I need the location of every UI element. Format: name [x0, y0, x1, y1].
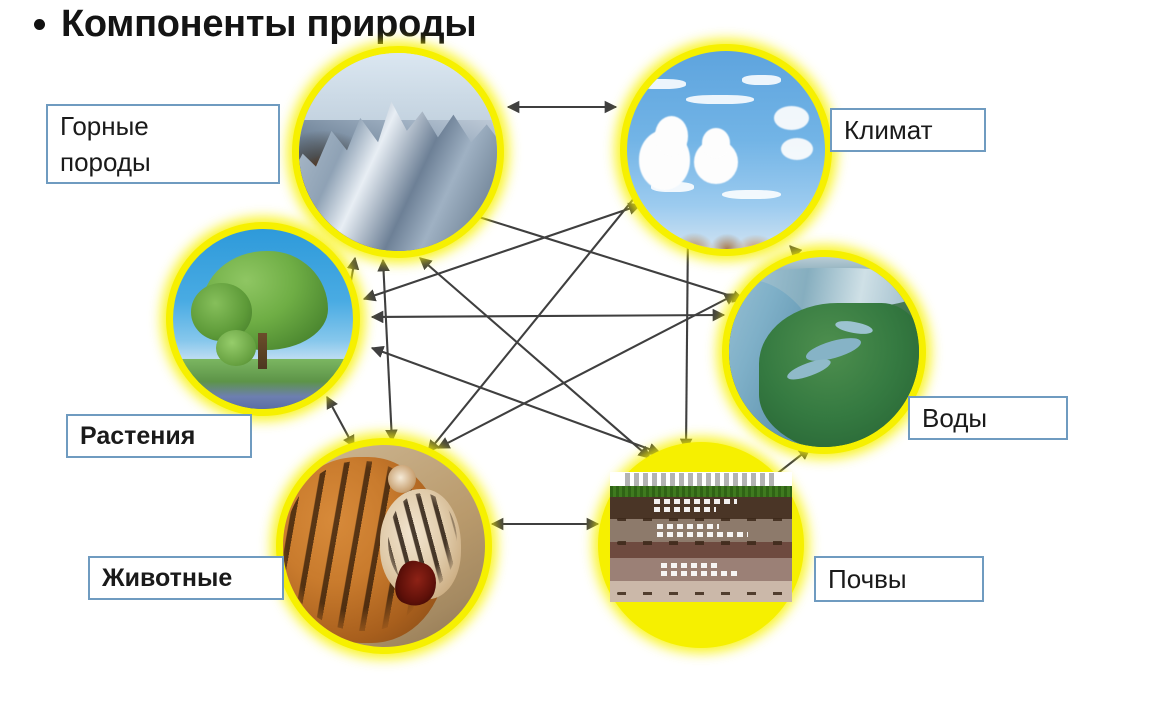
arrow-plants-soils [372, 348, 660, 453]
soil-profile-diagram [610, 472, 792, 602]
arrow-waters-animals [438, 294, 736, 448]
label-waters-text: Воды [922, 403, 987, 433]
label-rocks-text: Горные породы [60, 108, 151, 180]
page-title: Компоненты природы [34, 2, 476, 46]
node-animals[interactable] [276, 438, 492, 654]
slide-canvas: Компоненты природы [0, 0, 1167, 706]
node-plants[interactable] [166, 222, 360, 416]
node-soils[interactable] [598, 442, 804, 648]
mountains-photo [299, 53, 497, 251]
title-text: Компоненты природы [61, 2, 476, 46]
sky-clouds-photo [627, 51, 825, 249]
label-plants[interactable]: Растения [66, 414, 252, 458]
label-rocks[interactable]: Горные породы [46, 104, 280, 184]
label-animals-text: Животные [102, 563, 232, 593]
label-animals[interactable]: Животные [88, 556, 284, 600]
node-climate[interactable] [620, 44, 832, 256]
tiger-photo [283, 445, 485, 647]
bullet-icon [34, 19, 45, 30]
arrow-climate-soils [686, 228, 688, 450]
river-forest-photo [729, 257, 919, 447]
label-soils-text: Почвы [828, 564, 907, 594]
label-soils[interactable]: Почвы [814, 556, 984, 602]
label-climate-text: Климат [844, 115, 933, 145]
label-climate[interactable]: Климат [830, 108, 986, 152]
arrow-plants-waters [372, 315, 724, 317]
label-plants-text: Растения [80, 421, 195, 451]
arrow-rocks-animals [383, 260, 392, 441]
node-waters[interactable] [722, 250, 926, 454]
label-waters[interactable]: Воды [908, 396, 1068, 440]
arrow-rocks-soils [420, 258, 650, 458]
tree-meadow-photo [173, 229, 353, 409]
node-rocks[interactable] [292, 46, 504, 258]
